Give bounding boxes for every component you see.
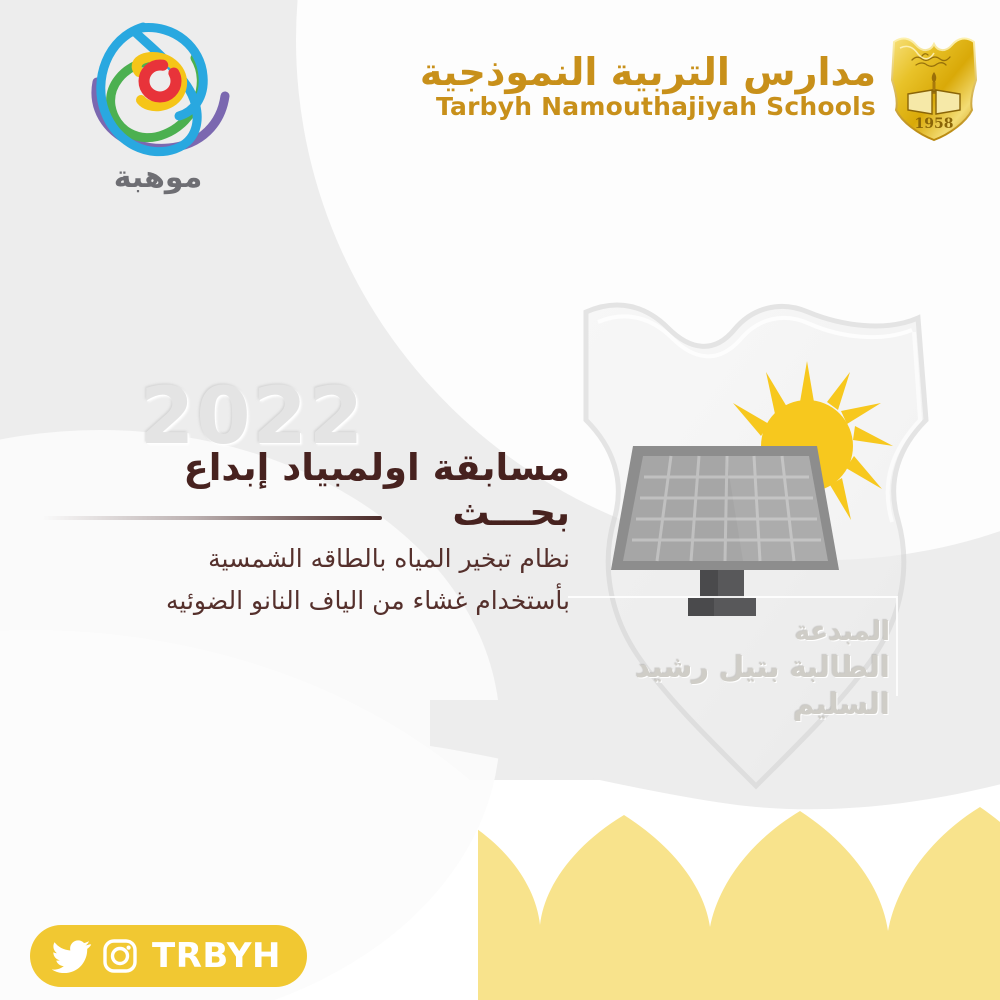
school-name-arabic: مدارس التربية النموذجية [420, 52, 876, 92]
headline-subtitle-line-2: بأستخدام غشاء من الياف النانو الضوئيه [60, 583, 570, 619]
headline-subtitle-line-1: نظام تبخير المياه بالطاقه الشمسية [60, 541, 570, 577]
student-credit-box: المبدعة الطالبة بتيل رشيد السليم [568, 596, 898, 696]
mawhiba-wordmark: موهبة [58, 160, 258, 195]
mawhiba-orbital-logo-icon [83, 18, 233, 158]
instagram-camera-icon[interactable] [102, 938, 138, 974]
solar-panel-with-sun-icon [585, 358, 915, 623]
social-handle-text: TRBYH [152, 936, 281, 976]
poster-canvas: 2022 موهبة مدارس التربية النموذجية Tarb [0, 0, 1000, 1000]
headline-title-line-2: بحـــث [60, 490, 570, 535]
headline-block: مسابقة اولمبياد إبداع بحـــث نظام تبخير … [60, 445, 570, 618]
crest-year: 1958 [915, 116, 954, 132]
twitter-bird-icon[interactable] [52, 939, 92, 973]
headline-divider-rule [42, 516, 382, 520]
headline-title-line-1: مسابقة اولمبياد إبداع [60, 445, 570, 490]
mawhiba-logo: موهبة [58, 18, 258, 208]
school-names: مدارس التربية النموذجية Tarbyh Namouthaj… [420, 52, 876, 119]
credit-label: المبدعة [568, 616, 890, 649]
social-handle-badge[interactable]: TRBYH [30, 925, 307, 987]
school-crest-shield-icon: 1958 [886, 30, 982, 142]
school-header: مدارس التربية النموذجية Tarbyh Namouthaj… [420, 30, 982, 142]
credit-student-name: الطالبة بتيل رشيد السليم [568, 649, 890, 723]
school-name-english: Tarbyh Namouthajiyah Schools [420, 93, 876, 120]
